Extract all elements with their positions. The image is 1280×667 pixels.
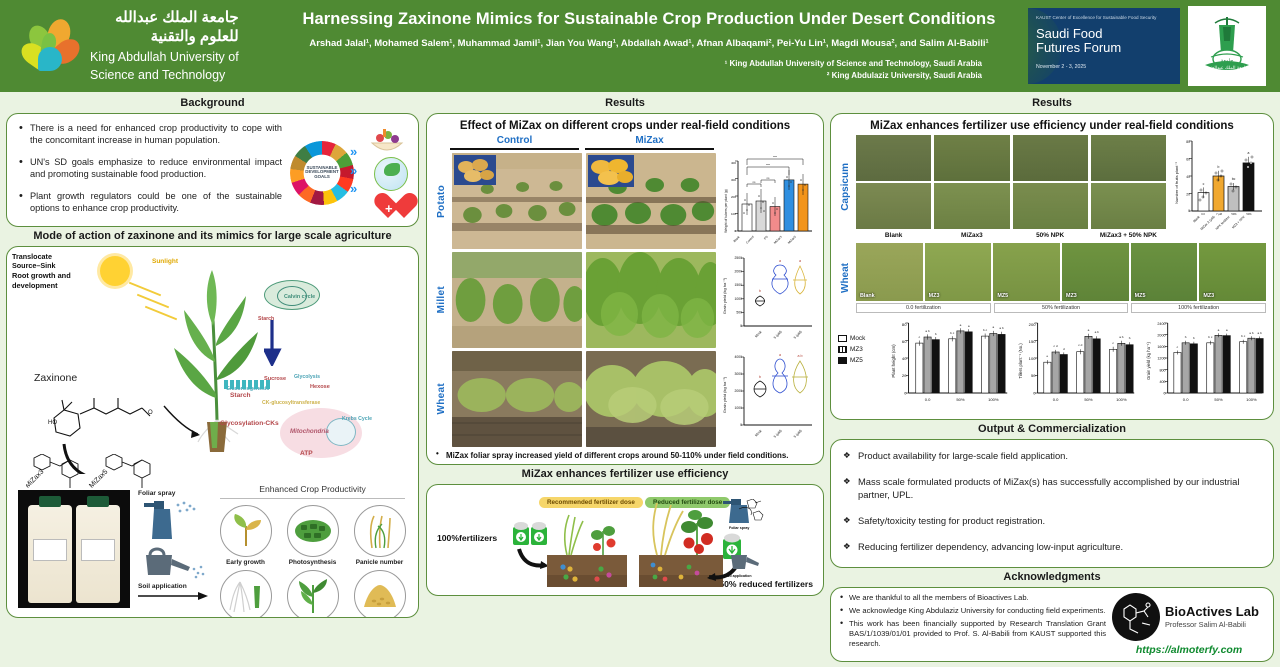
ecp-item: Plant height — [281, 570, 344, 618]
svg-text:50%: 50% — [1214, 397, 1223, 402]
svg-text:60: 60 — [1186, 158, 1190, 162]
svg-text:a b: a b — [1249, 331, 1254, 335]
kaust-english-line2: Science and Technology — [90, 67, 239, 83]
svg-text:Grain yield (kg ha⁻¹): Grain yield (kg ha⁻¹) — [722, 376, 727, 413]
mode-of-action-heading: Mode of action of zaxinone and its mimic… — [6, 227, 419, 246]
field-photo — [1013, 135, 1088, 181]
kaust-logo: جامعة الملك عبدالله للعلوم والتقنية King… — [0, 9, 270, 83]
sdg-graphic: SUSTAINABLE DEVELOPMENT GOALS »»» — [288, 127, 408, 219]
wheat-img-label: MZ3 — [929, 293, 940, 299]
svg-text:a: a — [1226, 328, 1228, 332]
svg-text:O: O — [148, 410, 153, 416]
wheat-img-label: Blank — [860, 293, 875, 299]
ecp-item: Root architecture — [214, 570, 277, 618]
food-bowl-icon — [368, 127, 406, 157]
svg-text:20: 20 — [1186, 193, 1190, 197]
soil-application-label: Soil application — [138, 583, 210, 590]
legend-swatch-mock — [838, 335, 847, 342]
bioactives-molecule-icon — [1112, 593, 1160, 641]
svg-text:a: a — [779, 353, 781, 357]
field-photo: MZ3 — [925, 243, 992, 301]
list-item: We are thankful to all the members of Bi… — [838, 593, 1106, 603]
wheat-mizax-photo — [586, 351, 716, 447]
control-header: Control — [450, 135, 579, 150]
svg-text:Tillers plant⁻¹ (No.): Tillers plant⁻¹ (No.) — [1018, 343, 1023, 379]
output-heading: Output & Commercialization — [830, 420, 1274, 439]
lab-name: BioActives Lab — [1165, 605, 1259, 619]
svg-text:b: b — [759, 289, 761, 293]
column-right: Results MiZax enhances fertilizer use ef… — [828, 92, 1280, 667]
list-item: Mass scale formulated products of MiZax(… — [843, 475, 1261, 502]
field-photo — [856, 135, 931, 181]
wheat-violin-chart: Grain yield (kg ha⁻¹) 010002000 30004000 — [720, 351, 816, 447]
svg-text:d: d — [1063, 347, 1065, 351]
svg-text:a: a — [968, 324, 970, 328]
ecp-label: Early growth — [214, 559, 277, 566]
svg-text:NPK fertilizer: NPK fertilizer — [1215, 214, 1232, 231]
output-bullet-list: Product availability for large-scale fie… — [843, 449, 1261, 553]
svg-text:100%: 100% — [1246, 397, 1257, 402]
potato-control-photo — [452, 153, 582, 249]
svg-text:Control: Control — [745, 235, 755, 245]
background-heading: Background — [6, 94, 419, 113]
list-item: Product availability for large-scale fie… — [843, 449, 1261, 463]
ecp-label: Panicle number — [348, 559, 411, 566]
plant-height-icon — [287, 570, 339, 618]
svg-text:50%: 50% — [1231, 212, 1237, 216]
panicle-icon — [354, 505, 406, 557]
full-fertilizer-scene — [513, 505, 633, 589]
potato-tubers-inset-mizax — [588, 155, 634, 187]
ecp-label: Photosynthesis — [281, 559, 344, 566]
arrows-icon: »»» — [350, 143, 357, 200]
capsicum-caption: Blank — [856, 232, 931, 239]
list-item: UN's SD goals emphasize to reduce enviro… — [17, 156, 282, 181]
svg-text:a b: a b — [999, 326, 1004, 330]
svg-text:50%: 50% — [1246, 212, 1252, 216]
svg-text:a b: a b — [1120, 335, 1125, 339]
potato-mizax-photo — [586, 153, 716, 249]
wheat-img-label: MZ3 — [1066, 293, 1077, 299]
spray-bottle-icon — [138, 497, 204, 541]
ecp-item: Photosynthesis — [281, 505, 344, 566]
health-heart-icon: + — [374, 192, 404, 219]
svg-text:a: a — [1088, 328, 1090, 332]
legend-label: MZ3 — [850, 346, 863, 353]
svg-text:1000: 1000 — [734, 406, 742, 410]
crop-row-millet: Millet — [434, 252, 816, 348]
bottle — [76, 505, 120, 603]
svg-text:400: 400 — [731, 161, 736, 165]
field-photo — [1013, 183, 1088, 229]
list-item: Reducing fertilizer dependency, advancin… — [843, 540, 1261, 554]
hexose-label: Hexose — [310, 384, 330, 390]
wheat-label: Wheat — [838, 243, 852, 313]
capsicum-blank-images — [856, 135, 931, 229]
millet-control-photo — [452, 252, 582, 348]
forum-kicker: KAUST Center of Excellence for Sustainab… — [1036, 15, 1172, 22]
capsicum-caption: MiZax3 + 50% NPK — [1091, 232, 1166, 239]
legend-item: MZ3 — [838, 346, 884, 353]
svg-text:0.0: 0.0 — [925, 397, 931, 402]
treatment-column-headers: Control MiZax — [434, 135, 816, 150]
fertilizer-field-title: MiZax enhances fertilizer use efficiency… — [838, 120, 1266, 132]
svg-text:50%: 50% — [1085, 397, 1094, 402]
poster-body: Background There is a need for enhanced … — [0, 92, 1280, 667]
svg-text:c d: c d — [1079, 343, 1083, 347]
svg-text:a: a — [992, 325, 994, 329]
field-photo — [1091, 183, 1166, 229]
mizax-header: MiZax — [585, 135, 714, 150]
starch-label: Starch — [230, 392, 251, 399]
svg-text:2400: 2400 — [1157, 322, 1165, 326]
capsicum-mizax-npk-images — [1091, 135, 1166, 229]
root-icon — [220, 570, 272, 618]
translocate-text: Translocate — [12, 252, 52, 261]
svg-text:b: b — [1218, 165, 1220, 169]
crops-results-panel: Effect of MiZax on different crops under… — [426, 113, 824, 465]
poster-header: جامعة الملك عبدالله للعلوم والتقنية King… — [0, 0, 1280, 92]
svg-text:a: a — [1248, 151, 1250, 155]
svg-text:0: 0 — [1163, 392, 1165, 396]
svg-text:40: 40 — [902, 356, 907, 361]
fertilization-band: 50% fertilization — [994, 303, 1129, 313]
header-logos: KAUST Center of Excellence for Sustainab… — [1028, 6, 1280, 86]
acknowledgments-heading: Acknowledgments — [830, 568, 1274, 587]
capsicum-caption: MiZax3 — [934, 232, 1009, 239]
svg-text:Grain yield (kg ha⁻¹): Grain yield (kg ha⁻¹) — [1146, 342, 1151, 380]
svg-text:Weight of tubers per plant (g): Weight of tubers per plant (g) — [724, 189, 728, 233]
svg-text:c: c — [1203, 182, 1205, 186]
affiliation-1: ¹ King Abdullah University of Science an… — [282, 58, 982, 70]
field-photo: MZ5 — [1131, 243, 1198, 301]
svg-text:100: 100 — [1029, 356, 1037, 361]
glycosylation-cks-label: Glycosylation-CKs — [220, 420, 279, 427]
svg-text:80: 80 — [1186, 140, 1190, 144]
kaust-petals-icon — [22, 17, 80, 75]
lab-professor: Professor Salim Al-Babili — [1165, 620, 1259, 629]
saudi-food-futures-forum-banner: KAUST Center of Excellence for Sustainab… — [1028, 8, 1180, 84]
svg-text:5 (µM): 5 (µM) — [793, 429, 803, 439]
svg-text:b c: b c — [1208, 335, 1213, 339]
svg-text:a b: a b — [1257, 331, 1262, 335]
fertilization-band: 0.0 fertilization — [856, 303, 991, 313]
capsicum-caption: 50% NPK — [1013, 232, 1088, 239]
svg-text:3000: 3000 — [734, 372, 742, 376]
svg-text:100%: 100% — [1116, 397, 1127, 402]
product-bottles-photo — [18, 490, 130, 608]
svg-text:جامعة الملك عبدالعزيز: جامعة الملك عبدالعزيز — [1205, 65, 1249, 71]
svg-text:5 (µM): 5 (µM) — [793, 330, 803, 340]
affiliation-2: ² King Abdulaziz University, Saudi Arabi… — [282, 70, 982, 82]
chloroplast-icon — [287, 505, 339, 557]
svg-text:MiZax3: MiZax3 — [773, 235, 783, 245]
legend-item: Mock — [838, 335, 884, 342]
sun-icon — [100, 256, 130, 286]
list-item: There is a need for enhanced crop produc… — [17, 122, 282, 147]
wheat-control-photo — [452, 351, 582, 447]
millet-violin-chart: Grain yield (kg ha⁻¹) 05001000 150020002… — [720, 252, 816, 348]
mizax-structures-icon: MiZax3 MiZax5 — [26, 454, 196, 494]
list-item: We acknowledge King Abdulaziz University… — [838, 606, 1106, 616]
output-panel: Product availability for large-scale fie… — [830, 439, 1274, 568]
svg-text:PS: PS — [763, 235, 769, 241]
svg-text:4000: 4000 — [734, 355, 742, 359]
field-photo: MZ3 — [1199, 243, 1266, 301]
wheat-chart-legend: Mock MZ3 MZ5 — [838, 317, 884, 368]
bioactives-lab-logo: BioActives Lab Professor Salim Al-Babili… — [1112, 593, 1266, 656]
fertilization-band: 100% fertilization — [1131, 303, 1266, 313]
fertilizer-field-panel: MiZax enhances fertilizer use efficiency… — [830, 113, 1274, 420]
potato-tubers-inset — [454, 155, 496, 185]
crop-label-millet: Millet — [434, 252, 448, 348]
globe-leaf-icon — [374, 157, 408, 191]
legend-swatch-mz3 — [838, 346, 847, 353]
list-item: Plant growth regulators could be one of … — [17, 190, 282, 215]
wheat-grain-yield-chart: Grain yield (kg ha⁻¹) 0400800 1200160020… — [1143, 317, 1266, 413]
svg-text:b: b — [935, 332, 937, 336]
svg-text:MiZax5: MiZax5 — [787, 235, 797, 245]
list-item: Safety/toxicity testing for product regi… — [843, 514, 1261, 528]
svg-text:b c: b c — [950, 331, 955, 335]
svg-text:200: 200 — [731, 195, 736, 199]
field-photo — [934, 183, 1009, 229]
watering-can-icon — [138, 543, 208, 583]
kau-emblem-icon: جامعة جامعة الملك عبدالعزيز — [1197, 13, 1257, 79]
sdg-core-label: SUSTAINABLE DEVELOPMENT GOALS — [304, 155, 340, 191]
wheat-row: Wheat Blank MZ3 MZ5 MZ3 — [838, 243, 1266, 313]
svg-text:2000: 2000 — [734, 389, 742, 393]
full-fertilizer-caption: 100%fertilizers — [437, 533, 497, 543]
svg-text:c: c — [919, 335, 921, 339]
svg-text:1600: 1600 — [1157, 345, 1165, 349]
svg-text:100: 100 — [731, 212, 736, 216]
capsicum-bar-chart: Number of fruits plant⁻¹ 02040 6080 — [1170, 135, 1266, 239]
mitochondria-label: Mitochondria — [290, 428, 329, 435]
svg-text:MiZax5: MiZax5 — [88, 468, 109, 489]
translocate-label: Translocate Source–Sink — [12, 252, 413, 271]
root-growth-line2: development — [12, 281, 58, 290]
title-block: Harnessing Zaxinone Mimics for Sustainab… — [270, 10, 1028, 81]
crop-label-wheat: Wheat — [434, 351, 448, 447]
kaust-wordmark: جامعة الملك عبدالله للعلوم والتقنية King… — [80, 9, 239, 83]
svg-text:c: c — [1113, 341, 1115, 345]
lab-url[interactable]: https://almoterfy.com — [1112, 644, 1266, 656]
svg-text:800: 800 — [1159, 368, 1165, 372]
enhanced-crop-productivity: Enhanced Crop Productivity Early growth — [214, 484, 411, 618]
capsicum-mizax3-images — [934, 135, 1009, 229]
svg-text:b: b — [759, 375, 761, 379]
list-item: This work has been financially supported… — [838, 619, 1106, 649]
forum-name-line2: Futures Forum — [1036, 41, 1172, 55]
svg-text:2000: 2000 — [1157, 333, 1165, 337]
field-photo: Blank — [856, 243, 923, 301]
crops-note: MiZax foliar spray increased yield of di… — [434, 447, 816, 460]
translocate-arrow-icon — [264, 316, 290, 366]
field-photo — [934, 135, 1009, 181]
capsicum-label: Capsicum — [838, 135, 852, 239]
svg-text:0.0: 0.0 — [1053, 397, 1059, 402]
crops-panel-title: Effect of MiZax on different crops under… — [434, 120, 816, 132]
svg-text:Grain yield (kg ha⁻¹): Grain yield (kg ha⁻¹) — [722, 277, 727, 314]
forum-date: November 2 - 3, 2025 — [1036, 64, 1172, 70]
kaust-english-line1: King Abdullah University of — [90, 49, 239, 65]
fertilizer-efficiency-panel: Recommended fertilizer dose Reduced fert… — [426, 484, 824, 596]
krebs-cycle-label: Krebs Cycle — [342, 416, 372, 422]
wheat-img-label: MZ5 — [1135, 293, 1146, 299]
source-sink-text: Source–Sink — [12, 261, 56, 270]
crop-row-potato: Potato — [434, 153, 816, 249]
reduced-fertilizer-scene: Foliar spray Soil application — [635, 499, 765, 591]
svg-text:0.0: 0.0 — [1182, 397, 1188, 402]
svg-text:Plant height (cm): Plant height (cm) — [891, 344, 896, 378]
millet-mizax-photo — [586, 252, 716, 348]
kaust-arabic-line2: للعلوم والتقنية — [90, 28, 239, 47]
acknowledgments-list: We are thankful to all the members of Bi… — [838, 593, 1106, 649]
wheat-img-label: MZ5 — [997, 293, 1008, 299]
legend-label: MZ5 — [850, 357, 863, 364]
svg-text:c d: c d — [1054, 344, 1058, 348]
root-growth-line1: Root growth and — [12, 271, 71, 280]
svg-text:a: a — [779, 259, 781, 263]
svg-text:Number of fruits plant⁻¹: Number of fruits plant⁻¹ — [1174, 161, 1179, 203]
product-application-figure: MiZax3 MiZax5 Foliar spray — [12, 482, 413, 612]
mode-of-action-figure: Sunlight Zaxinone — [12, 252, 413, 480]
legend-label: Mock — [850, 335, 865, 342]
application-methods: Foliar spray — [138, 490, 210, 608]
svg-text:5 (µM): 5 (µM) — [773, 330, 783, 340]
glycolysis-label: Glycolysis — [294, 374, 320, 380]
svg-text:a: a — [960, 323, 962, 327]
bottle — [28, 505, 72, 603]
crop-label-potato: Potato — [434, 153, 448, 249]
seedling-icon — [220, 505, 272, 557]
svg-text:1200: 1200 — [1157, 357, 1165, 361]
svg-text:Mock: Mock — [754, 330, 763, 339]
svg-text:a b: a b — [798, 354, 803, 358]
svg-text:1000: 1000 — [734, 297, 742, 301]
author-list: Arshad Jalal¹, Mohamed Salem¹, Muhammad … — [282, 38, 1016, 49]
svg-text:MiZax 3 (µM): MiZax 3 (µM) — [1200, 215, 1216, 231]
svg-text:MZ3 + NPK: MZ3 + NPK — [1231, 214, 1246, 229]
svg-text:60: 60 — [902, 339, 907, 344]
atp-label: ATP — [300, 450, 313, 457]
svg-text:ns: ns — [767, 177, 770, 180]
capsicum-row: Capsicum — [838, 135, 1266, 239]
svg-text:7 µM: 7 µM — [1216, 212, 1222, 216]
svg-text:****: **** — [773, 155, 777, 159]
svg-text:a: a — [1217, 328, 1219, 332]
svg-text:****: **** — [766, 163, 770, 167]
results-heading-middle: Results — [426, 94, 824, 113]
svg-text:b: b — [1129, 336, 1131, 340]
field-photo — [1091, 135, 1166, 181]
svg-text:a b: a b — [1095, 330, 1100, 334]
kau-logo: جامعة جامعة الملك عبدالعزيز — [1188, 6, 1266, 86]
field-photo: MZ3 — [1062, 243, 1129, 301]
svg-text:a: a — [799, 259, 801, 263]
background-bullet-list: There is a need for enhanced crop produc… — [17, 122, 282, 215]
column-middle: Results Effect of MiZax on different cro… — [424, 92, 828, 667]
starch-chain-icon — [224, 380, 280, 390]
wheat-plant-height-chart: Plant height (cm) 020406080 — [888, 317, 1011, 413]
foliar-spray-label: Foliar spray — [138, 490, 210, 497]
svg-text:b: b — [1193, 336, 1195, 340]
results-heading-right: Results — [830, 94, 1274, 113]
field-photo: MZ5 — [993, 243, 1060, 301]
forum-name-line1: Saudi Food — [1036, 27, 1172, 41]
svg-text:5 (µM): 5 (µM) — [773, 429, 783, 439]
mode-of-action-panel: Sunlight Zaxinone — [6, 246, 419, 618]
field-photo — [856, 183, 931, 229]
ecp-item: Grain yield — [348, 570, 411, 618]
svg-text:50%: 50% — [956, 397, 965, 402]
fertilizer-efficiency-heading: MiZax enhances fertilizer use efficiency — [426, 465, 824, 484]
sunlight-label: Sunlight — [152, 258, 178, 265]
poster-root: جامعة الملك عبدالله للعلوم والتقنية King… — [0, 0, 1280, 667]
wheat-tillers-chart: Tillers plant⁻¹ (No.) 050100150200 — [1015, 317, 1138, 413]
legend-swatch-mz5 — [838, 357, 847, 364]
ecp-item: Panicle number — [348, 505, 411, 566]
svg-text:1500: 1500 — [734, 283, 742, 287]
svg-text:0.0: 0.0 — [1201, 212, 1205, 216]
svg-text:400: 400 — [1159, 380, 1165, 384]
ecp-item: Early growth — [214, 505, 277, 566]
ck-glucosyltransferase-label: CK-glucosyltransferase — [262, 400, 320, 406]
svg-text:ns: ns — [753, 181, 756, 184]
wheat-charts-row: Mock MZ3 MZ5 Plant height (cm) 0204 — [838, 317, 1266, 413]
svg-text:e: e — [1047, 354, 1049, 358]
svg-text:100%: 100% — [988, 397, 999, 402]
svg-text:2000: 2000 — [734, 270, 742, 274]
svg-text:Foliar spray: Foliar spray — [729, 526, 749, 530]
svg-text:a b: a b — [925, 329, 930, 333]
acknowledgments-panel: We are thankful to all the members of Bi… — [830, 587, 1274, 662]
svg-text:b c: b c — [983, 328, 988, 332]
svg-text:c: c — [1176, 345, 1178, 349]
ecp-title: Enhanced Crop Productivity — [214, 484, 411, 494]
divider — [220, 498, 405, 499]
kaust-arabic-line1: جامعة الملك عبدالله — [90, 9, 239, 28]
page-title: Harnessing Zaxinone Mimics for Sustainab… — [282, 10, 1016, 29]
svg-text:b: b — [1184, 335, 1186, 339]
svg-text:MiZax3: MiZax3 — [26, 468, 45, 489]
svg-text:40: 40 — [1186, 175, 1190, 179]
svg-text:150: 150 — [1029, 339, 1037, 344]
svg-text:Mock: Mock — [754, 429, 763, 438]
svg-text:Blank: Blank — [733, 235, 741, 243]
svg-text:HO: HO — [48, 420, 57, 426]
svg-text:2500: 2500 — [734, 256, 742, 260]
capsicum-npk-images — [1013, 135, 1088, 229]
svg-text:b c: b c — [1241, 334, 1246, 338]
potato-bar-chart: Weight of tubers per plant (g) 0100200 3… — [720, 153, 816, 249]
grain-pile-icon — [354, 570, 406, 618]
background-panel: There is a need for enhanced crop produc… — [6, 113, 419, 227]
zaxinone-label: Zaxinone — [34, 372, 77, 384]
column-left: Background There is a need for enhanced … — [0, 92, 424, 667]
svg-text:Soil application: Soil application — [725, 574, 752, 578]
crop-row-wheat: Wheat — [434, 351, 816, 447]
legend-item: MZ5 — [838, 357, 884, 364]
wheat-img-label: MZ3 — [1203, 293, 1214, 299]
calvin-cycle-label: Calvin cycle — [284, 294, 315, 300]
application-arrow-icon — [138, 591, 210, 601]
svg-text:Blank: Blank — [1192, 215, 1201, 224]
svg-text:bc: bc — [1232, 177, 1236, 181]
